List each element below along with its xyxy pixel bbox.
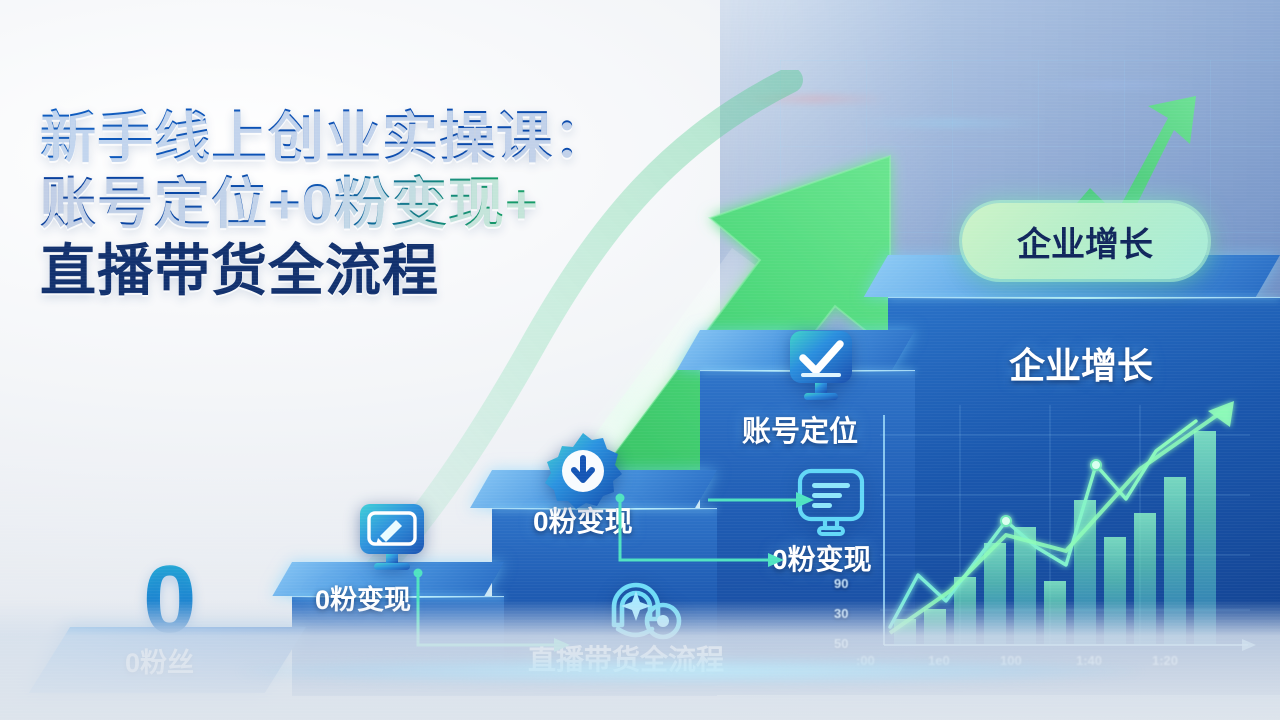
gear-download-icon[interactable] [543,431,623,511]
banner-canvas: 新手线上创业实操课： 账号定位+0粉变现+ 直播带货全流程 [0,0,1280,720]
status-badge-label: 企业增长 [1017,217,1153,266]
floor-glow [240,658,1140,684]
chart-ytick-0: 90 [834,576,848,591]
status-badge[interactable]: 企业增长 [962,203,1208,279]
step-5-label: 企业增长 [1009,337,1153,389]
monitor-pen-icon[interactable] [356,500,428,576]
